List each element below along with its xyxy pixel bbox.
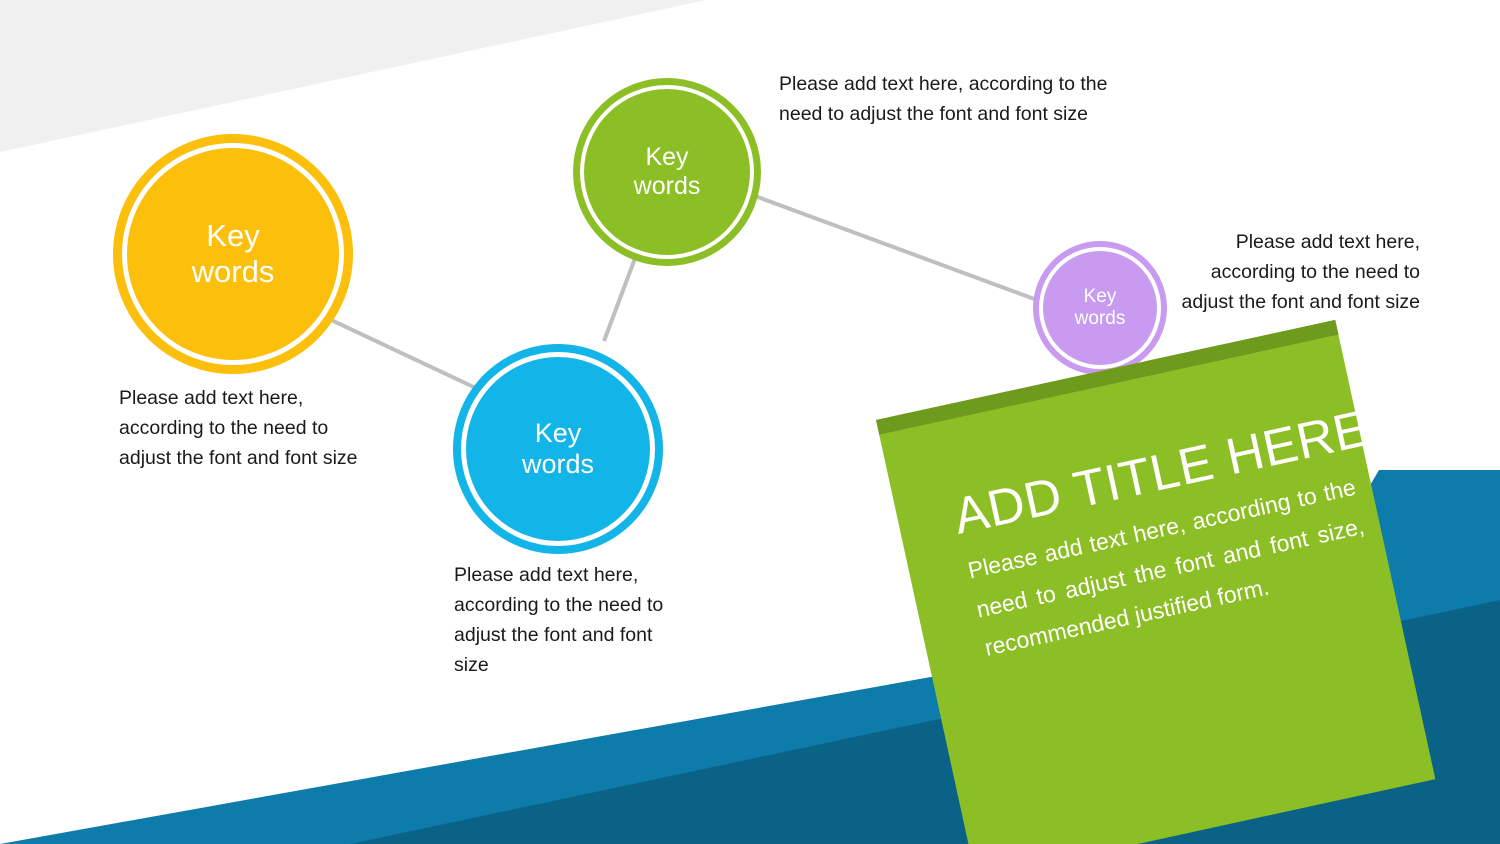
node-green[interactable]: Key words [580,85,754,259]
node-yellow[interactable]: Key words [122,143,344,365]
node-purple[interactable]: Key words [1039,247,1161,369]
connector-yellow-blue [327,318,480,390]
caption-green: Please add text here, according to the n… [779,69,1109,129]
node-yellow-label: Key words [186,218,281,290]
node-green-label: Key words [628,143,707,201]
connector-green-blue [604,253,637,341]
connector-green-purple [755,196,1037,300]
caption-blue: Please add text here, according to the n… [454,560,689,680]
caption-yellow: Please add text here, according to the n… [119,383,359,473]
node-blue-label: Key words [516,418,600,481]
node-blue[interactable]: Key words [461,352,655,546]
slide-canvas: Key words Key words Key words Key words … [0,0,1500,844]
node-purple-label: Key words [1069,286,1132,330]
caption-purple: Please add text here, according to the n… [1177,227,1420,317]
